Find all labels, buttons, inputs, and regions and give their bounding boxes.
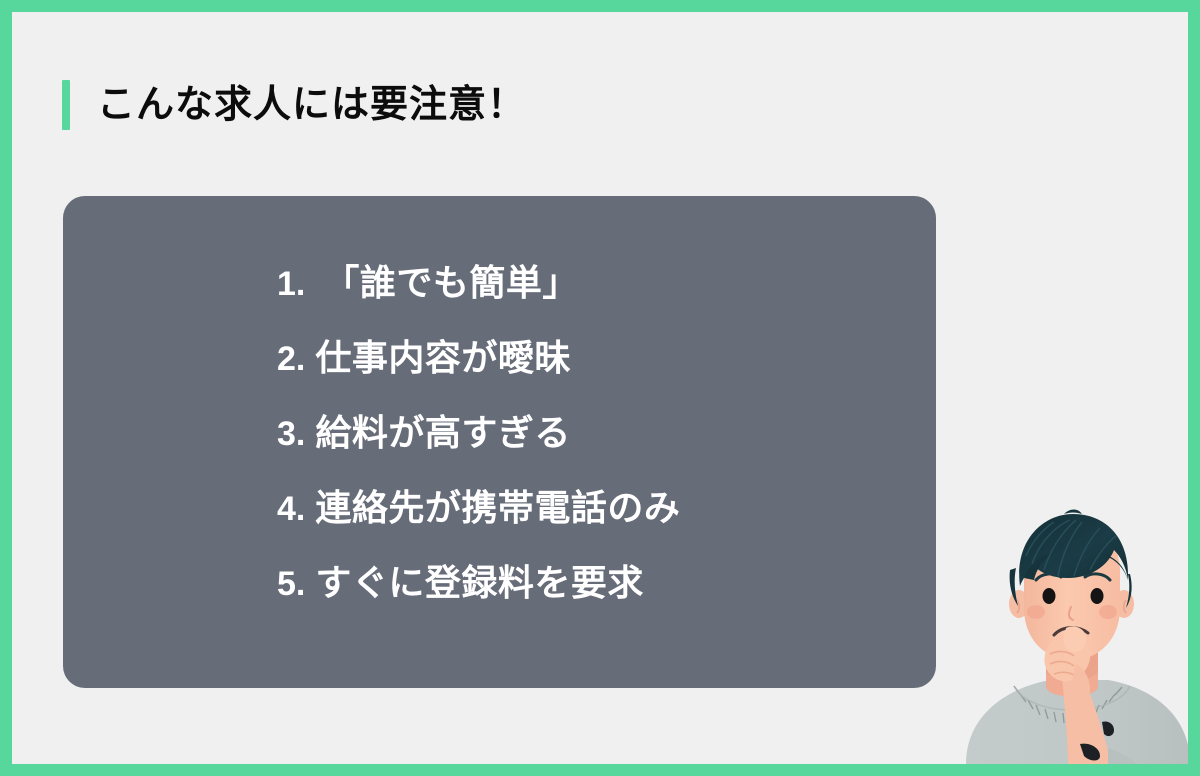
list-item: 4. 連絡先が携帯電話のみ: [63, 479, 936, 554]
warning-list-card: 1. 「誰でも簡単」 2. 仕事内容が曖昧 3. 給料が高すぎる 4. 連絡先が…: [63, 196, 936, 688]
slide-frame: こんな求人には要注意！ 1. 「誰でも簡単」 2. 仕事内容が曖昧 3. 給料が…: [0, 0, 1200, 776]
warning-list: 1. 「誰でも簡単」 2. 仕事内容が曖昧 3. 給料が高すぎる 4. 連絡先が…: [63, 196, 936, 629]
list-item-number: 1.: [277, 265, 305, 304]
thinking-man-illustration: [958, 504, 1188, 764]
right-cheek-blush: [1099, 605, 1117, 619]
thinking-man-icon: [958, 504, 1188, 764]
list-item-label: 連絡先が携帯電話のみ: [315, 479, 680, 531]
title-text: こんな求人には要注意！: [97, 86, 526, 124]
list-item-label: 「誰でも簡単」: [323, 254, 579, 306]
list-item: 2. 仕事内容が曖昧: [63, 329, 936, 404]
list-item-label: すぐに登録料を要求: [315, 554, 644, 606]
list-item-label: 給料が高すぎる: [315, 404, 571, 456]
list-item-number: 2.: [277, 340, 305, 379]
left-eye: [1043, 588, 1056, 604]
title-accent-bar: [62, 80, 70, 130]
list-item-number: 5.: [277, 565, 305, 604]
list-item: 1. 「誰でも簡単」: [63, 254, 936, 329]
list-item: 5. すぐに登録料を要求: [63, 554, 936, 629]
slide-canvas: こんな求人には要注意！ 1. 「誰でも簡単」 2. 仕事内容が曖昧 3. 給料が…: [12, 12, 1188, 764]
list-item-number: 4.: [277, 490, 305, 529]
hair-tuft: [1064, 510, 1082, 515]
right-eye: [1091, 588, 1104, 604]
left-cheek-blush: [1027, 605, 1045, 619]
page-title: こんな求人には要注意！: [62, 78, 526, 132]
list-item-number: 3.: [277, 415, 305, 454]
list-item: 3. 給料が高すぎる: [63, 404, 936, 479]
list-item-label: 仕事内容が曖昧: [315, 329, 571, 381]
